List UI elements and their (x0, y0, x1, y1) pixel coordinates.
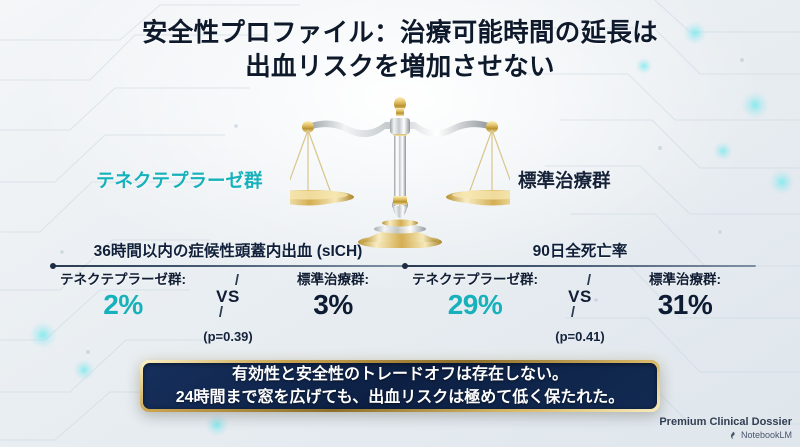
metric-side-value: 2% (48, 289, 198, 321)
versus-separator: / VS / (544, 275, 616, 319)
scale-label-standard-care: 標準治療群 (518, 167, 611, 193)
metric-panel-sich: 36時間以内の症候性頭蓋内出血 (sICH) テネクテプラーゼ群: 2% / V… (52, 242, 404, 350)
slide-title-line-1: 安全性プロファイル：治療可能時間の延長は (142, 19, 658, 47)
glow-dot (742, 92, 768, 118)
metric-side-label: 標準治療群: (258, 271, 408, 289)
versus-separator: / VS / (192, 275, 264, 319)
versus-slash-bottom: / (537, 307, 609, 319)
metric-side-value: 3% (258, 289, 408, 321)
scale-label-tenecteplase: テネクテプラーゼ群 (96, 167, 263, 193)
versus-slash-bottom: / (185, 307, 257, 319)
metric-side-label: テネクテプラーゼ群: (400, 271, 550, 289)
versus-label: VS (544, 287, 616, 307)
versus-label: VS (192, 287, 264, 307)
metric-side-value: 31% (610, 289, 760, 321)
metric-side-standard-care: 標準治療群: 3% (258, 271, 408, 321)
metric-panel-title: 90日全死亡率 (404, 242, 756, 262)
slide-canvas: 安全性プロファイル：治療可能時間の延長は 出血リスクを増加させない (0, 0, 800, 447)
metric-panel-divider (404, 265, 756, 267)
metric-comparison: テネクテプラーゼ群: 29% / VS / 標準治療群: 31% (p=0.41… (404, 271, 756, 347)
metric-side-tenecteplase: テネクテプラーゼ群: 29% (400, 271, 550, 321)
metric-panel-mortality: 90日全死亡率 テネクテプラーゼ群: 29% / VS / 標準治療群: 31%… (404, 242, 756, 350)
notebooklm-logo-icon (729, 431, 738, 440)
watermark: Premium Clinical Dossier NotebookLM (659, 415, 792, 441)
metric-comparison: テネクテプラーゼ群: 2% / VS / 標準治療群: 3% (p=0.39) (52, 271, 404, 347)
glow-dot (206, 414, 228, 436)
conclusion-line-2: 24時間まで窓を広げても、出血リスクは極めて低く保たれた。 (176, 386, 625, 409)
metric-panel-divider (52, 265, 404, 267)
conclusion-line-1: 有効性と安全性のトレードオフは存在しない。 (232, 363, 568, 386)
metric-panel-title: 36時間以内の症候性頭蓋内出血 (sICH) (52, 242, 404, 262)
metric-p-value: (p=0.39) (203, 329, 253, 344)
metric-side-tenecteplase: テネクテプラーゼ群: 2% (48, 271, 198, 321)
metric-side-value: 29% (400, 289, 550, 321)
glow-dot (714, 142, 732, 160)
watermark-product-name: NotebookLM (741, 429, 792, 441)
conclusion-banner-inner: 有効性と安全性のトレードオフは存在しない。 24時間まで窓を広げても、出血リスク… (143, 363, 657, 409)
metric-side-label: テネクテプラーゼ群: (48, 271, 198, 289)
slide-title-line-2: 出血リスクを増加させない (0, 50, 800, 84)
balance-scale-graphic (290, 96, 510, 248)
glow-dot (770, 170, 794, 194)
metric-side-standard-care: 標準治療群: 31% (610, 271, 760, 321)
glow-dot (74, 360, 94, 380)
metric-side-label: 標準治療群: (610, 271, 760, 289)
conclusion-banner: 有効性と安全性のトレードオフは存在しない。 24時間まで窓を広げても、出血リスク… (140, 360, 660, 412)
slide-title: 安全性プロファイル：治療可能時間の延長は 出血リスクを増加させない (0, 16, 800, 84)
metric-p-value: (p=0.41) (555, 329, 605, 344)
watermark-title: Premium Clinical Dossier (659, 415, 792, 429)
watermark-subtitle-row: NotebookLM (659, 429, 792, 441)
